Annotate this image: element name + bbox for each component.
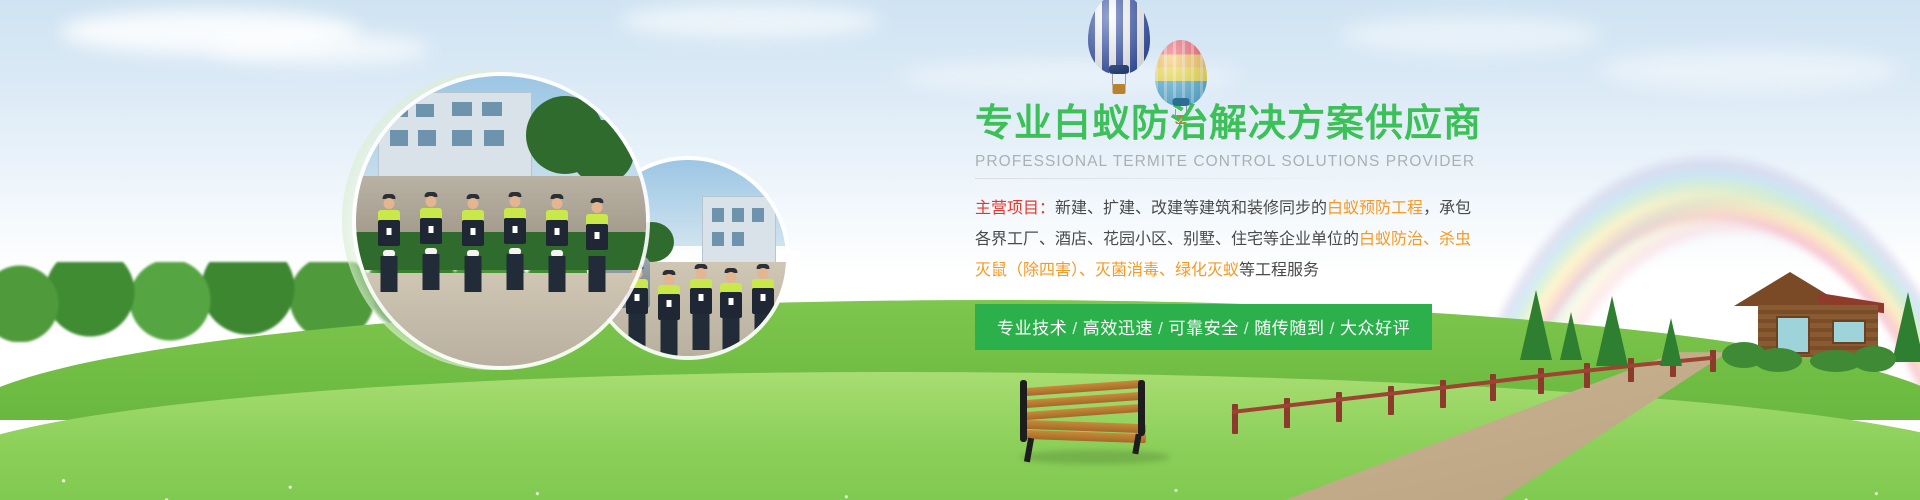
description-line-2: 各界工厂、酒店、花园小区、别墅、住宅等企业单位的白蚁防治、杀虫 <box>975 224 1475 255</box>
description-block: 主营项目：新建、扩建、改建等建筑和装修同步的白蚁预防工程，承包 各界工厂、酒店、… <box>975 193 1475 286</box>
page-subtitle: PROFESSIONAL TERMITE CONTROL SOLUTIONS P… <box>975 153 1495 171</box>
conifer-tree-icon <box>1520 290 1552 360</box>
description-line-2-highlight: 白蚁防治、杀虫 <box>1359 231 1471 248</box>
description-line-3-text-a: 等工程服务 <box>1239 262 1319 279</box>
cloud-decoration <box>1600 50 1900 90</box>
description-line-3: 灭鼠（除四害）、灭菌消毒、绿化灭蚁等工程服务 <box>975 255 1475 286</box>
conifer-tree-icon <box>1560 312 1582 360</box>
hero-banner: 专业白蚁防治解决方案供应商 PROFESSIONAL TERMITE CONTR… <box>0 0 1920 500</box>
tagline-separator: / <box>1244 319 1249 338</box>
tagline-separator: / <box>1330 319 1335 338</box>
tagline-item: 高效迅速 <box>1083 319 1153 338</box>
tagline-item: 大众好评 <box>1340 319 1410 338</box>
hot-air-balloon-blue-icon <box>1088 0 1150 74</box>
tagline-separator: / <box>1158 319 1163 338</box>
cloud-decoration <box>620 4 880 38</box>
description-line-1-text-b: ，承包 <box>1423 200 1471 217</box>
description-line-3-highlight: 灭鼠（除四害）、灭菌消毒、绿化灭蚁 <box>975 262 1239 279</box>
divider <box>975 178 1375 179</box>
cloud-decoration <box>210 34 430 64</box>
tagline-separator: / <box>1072 319 1077 338</box>
log-cabin-illustration <box>1740 272 1890 372</box>
hot-air-balloon-colorful-icon <box>1155 40 1207 106</box>
page-title: 专业白蚁防治解决方案供应商 <box>975 104 1495 145</box>
description-line-1-text-a: 新建、扩建、改建等建筑和装修同步的 <box>1055 200 1327 217</box>
photo-collage <box>342 62 782 372</box>
conifer-tree-icon <box>1660 318 1682 366</box>
conifer-tree-icon <box>1596 296 1628 366</box>
conifer-tree-icon <box>1892 292 1920 362</box>
park-bench-illustration <box>1010 378 1170 468</box>
tagline-item: 可靠安全 <box>1168 319 1238 338</box>
description-line-2-text-a: 各界工厂、酒店、花园小区、别墅、住宅等企业单位的 <box>975 231 1359 248</box>
main-projects-label: 主营项目 <box>975 200 1039 217</box>
description-line-1-highlight: 白蚁预防工程 <box>1327 200 1423 217</box>
label-colon: ： <box>1039 200 1055 217</box>
cloud-decoration <box>1340 16 1600 54</box>
description-line-1: 主营项目：新建、扩建、改建等建筑和装修同步的白蚁预防工程，承包 <box>975 193 1475 224</box>
tagline-item: 随传随到 <box>1254 319 1324 338</box>
team-photo-primary <box>356 76 646 366</box>
tagline-item: 专业技术 <box>997 319 1067 338</box>
banner-text-column: 专业白蚁防治解决方案供应商 PROFESSIONAL TERMITE CONTR… <box>975 104 1495 350</box>
tagline-bar: 专业技术/高效迅速/可靠安全/随传随到/大众好评 <box>975 304 1432 350</box>
